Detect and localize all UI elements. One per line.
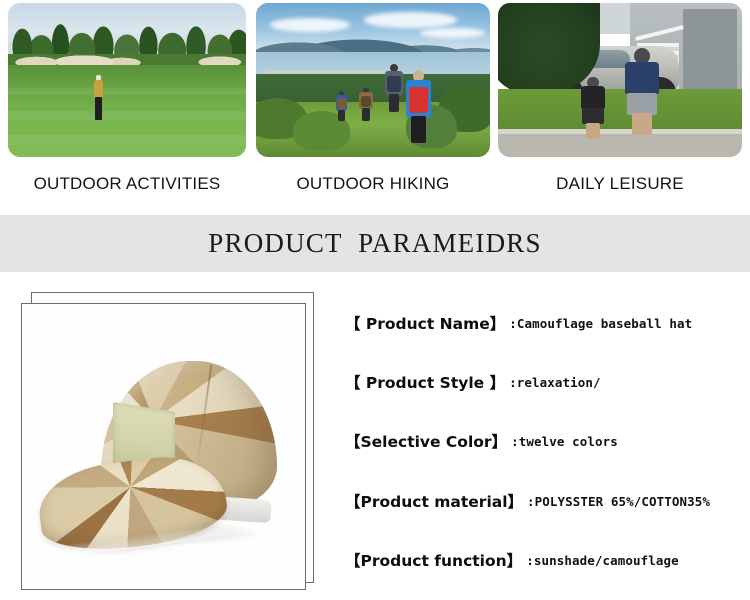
photo-caption-daily-leisure: DAILY LEISURE: [498, 174, 742, 194]
sidewalk: [498, 134, 742, 157]
spec-row-product-function: 【Product function】 :sunshade/camouflage: [345, 547, 745, 573]
hiker-figure: [385, 71, 404, 111]
spec-label: 【 Product Name】: [345, 312, 505, 334]
hiking-trail-scene: [256, 3, 490, 157]
child-runner-figure: [581, 86, 605, 138]
lifestyle-photo-daily-leisure[interactable]: [498, 3, 742, 157]
spec-row-selective-color: 【Selective Color】 :twelve colors: [345, 428, 745, 454]
photo-caption-outdoor-activities: OUTDOOR ACTIVITIES: [8, 174, 246, 194]
product-listing-page: OUTDOOR ACTIVITIES OUTDOOR HIKING DAILY …: [0, 0, 750, 600]
section-banner: PRODUCT PARAMEIDRS: [0, 215, 750, 272]
product-image-frame[interactable]: [21, 303, 306, 590]
golf-course-scene: [8, 3, 246, 157]
spec-value: :relaxation/: [509, 375, 601, 390]
photo-captions: OUTDOOR ACTIVITIES OUTDOOR HIKING DAILY …: [0, 162, 750, 208]
spec-row-product-material: 【Product material】 :POLYSSTER 65%/COTTON…: [345, 488, 745, 514]
mow-stripe: [8, 111, 246, 120]
spec-label: 【Product function】: [345, 549, 522, 571]
spec-value: :sunshade/camouflage: [526, 553, 679, 568]
hiker-figure-foreground: [406, 80, 432, 142]
photo-caption-outdoor-hiking: OUTDOOR HIKING: [256, 174, 490, 194]
spec-label: 【Product material】: [345, 490, 523, 512]
product-parameters-list: 【 Product Name】 :Camouflage baseball hat…: [345, 292, 745, 592]
hiker-figure: [336, 95, 348, 120]
spec-value: :Camouflage baseball hat: [509, 316, 692, 331]
spec-row-product-style: 【 Product Style 】 :relaxation/: [345, 369, 745, 395]
spec-label: 【 Product Style 】: [345, 371, 505, 393]
hiker-figure: [359, 92, 373, 120]
mow-stripe: [8, 88, 246, 96]
mow-stripe: [8, 135, 246, 144]
lifestyle-photo-strip: [0, 0, 750, 160]
spec-value: :twelve colors: [511, 434, 618, 449]
camouflage-hat-image: [22, 304, 305, 589]
spec-value: :POLYSSTER 65%/COTTON35%: [527, 494, 710, 509]
spec-row-product-name: 【 Product Name】 :Camouflage baseball hat: [345, 310, 745, 336]
lifestyle-photo-outdoor-activities[interactable]: [8, 3, 246, 157]
adult-runner-figure: [625, 62, 659, 136]
spec-label: 【Selective Color】: [345, 430, 507, 452]
suburban-jogging-scene: [498, 3, 742, 157]
golfer-figure: [94, 80, 103, 120]
lifestyle-photo-outdoor-hiking[interactable]: [256, 3, 490, 157]
section-title: PRODUCT PARAMEIDRS: [208, 228, 541, 259]
